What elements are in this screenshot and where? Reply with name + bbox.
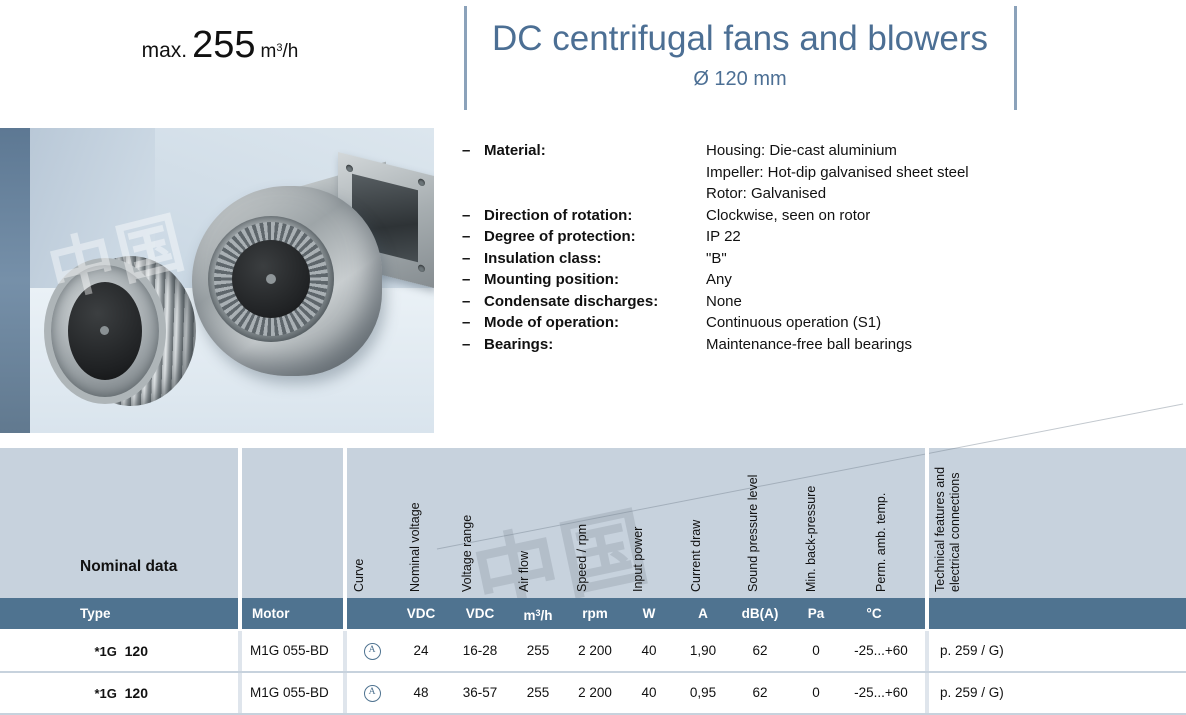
column-gap (238, 673, 242, 713)
column-gap (925, 598, 929, 629)
spec-label: Bearings: (484, 334, 706, 356)
product-photo: 中国 (0, 128, 434, 433)
spec-dash: – (462, 269, 484, 291)
spec-value: None (706, 291, 1180, 313)
cell-notes[interactable]: p. 259 / G) (940, 673, 1160, 713)
spec-dash: – (462, 140, 484, 162)
table-unit-row: Type Motor VDC VDC m3/h rpm W A dB(A) Pa… (0, 598, 1186, 629)
spec-dash: – (462, 226, 484, 248)
blower-hub (232, 240, 310, 318)
cell-current-draw: 1,90 (678, 631, 728, 671)
header-amb-temp: Perm. amb. temp. (874, 493, 888, 592)
cell-type: *1G 120 (0, 631, 148, 671)
spec-label: Direction of rotation: (484, 205, 706, 227)
spec-value: IP 22 (706, 226, 1180, 248)
spec-value: Impeller: Hot-dip galvanised sheet steel (706, 162, 1180, 184)
spec-label: Mounting position: (484, 269, 706, 291)
spec-values: None (706, 291, 1180, 313)
cell-nominal-voltage: 48 (396, 673, 446, 713)
spec-values: Maintenance-free ball bearings (706, 334, 1180, 356)
cell-amb-temp: -25...+60 (842, 631, 920, 671)
unit-notes (940, 598, 1140, 629)
column-gap (925, 673, 929, 713)
table-rotated-header-band: 中国 Nominal data Curve Nominal voltage Vo… (0, 448, 1186, 598)
flange-hole-icon (418, 178, 425, 187)
spec-dash: – (462, 205, 484, 227)
max-airflow-callout: max.255m3/h (0, 24, 440, 67)
spec-row: – Condensate discharges: None (462, 291, 1180, 313)
spec-value: Maintenance-free ball bearings (706, 334, 1180, 356)
cell-input-power: 40 (626, 631, 672, 671)
nominal-data-table: 中国 Nominal data Curve Nominal voltage Vo… (0, 448, 1186, 712)
page-title: DC centrifugal fans and blowers (466, 18, 1014, 60)
impeller-back-plate (68, 282, 142, 380)
cell-sound-pressure: 62 (732, 631, 788, 671)
spec-row: – Material: Housing: Die-cast aluminium … (462, 140, 1180, 205)
photo-left-bar (0, 128, 30, 433)
column-gap (238, 598, 242, 629)
cell-notes[interactable]: p. 259 / G) (940, 631, 1160, 671)
header-technical-features-line2: electrical connections (948, 472, 962, 592)
spec-value: "B" (706, 248, 1180, 270)
header-min-back-pressure: Min. back-pressure (804, 486, 818, 592)
cell-amb-temp: -25...+60 (842, 673, 920, 713)
specifications-list: – Material: Housing: Die-cast aluminium … (462, 140, 1180, 355)
spec-values: Housing: Die-cast aluminium Impeller: Ho… (706, 140, 1180, 205)
header-input-power: Input power (631, 527, 645, 592)
header-electrical-connections: electrical connections (948, 472, 963, 592)
max-airflow-unit: m3/h (261, 41, 299, 62)
cell-current-draw: 0,95 (678, 673, 728, 713)
spec-dash: – (462, 248, 484, 270)
max-airflow-label: max. (142, 39, 188, 62)
spec-label: Mode of operation: (484, 312, 706, 334)
spec-row: – Mounting position: Any (462, 269, 1180, 291)
table-row[interactable]: *1G 120 M1G 055-BD A 48 36-57 255 2 200 … (0, 673, 1186, 715)
unit-nominal-voltage: VDC (396, 598, 446, 629)
column-gap (925, 448, 929, 598)
spec-label: Insulation class: (484, 248, 706, 270)
unit-curve (352, 598, 392, 629)
page-subtitle: Ø 120 mm (466, 64, 1014, 94)
spec-value: Any (706, 269, 1180, 291)
spec-value: Clockwise, seen on rotor (706, 205, 1180, 227)
spec-label: Condensate discharges: (484, 291, 706, 313)
header-sound-pressure: Sound pressure level (746, 475, 760, 592)
cell-nominal-voltage: 24 (396, 631, 446, 671)
column-gap (343, 598, 347, 629)
header-divider-right (1014, 6, 1017, 110)
column-gap (343, 448, 347, 598)
spec-row: – Direction of rotation: Clockwise, seen… (462, 205, 1180, 227)
cell-speed: 2 200 (568, 673, 622, 713)
cell-curve[interactable]: A (352, 631, 392, 671)
spec-values: IP 22 (706, 226, 1180, 248)
column-gap (925, 631, 929, 671)
spec-row: – Insulation class: "B" (462, 248, 1180, 270)
unit-motor: Motor (252, 598, 340, 629)
spec-row: – Degree of protection: IP 22 (462, 226, 1180, 248)
header-curve: Curve (352, 559, 366, 592)
column-gap (238, 448, 242, 598)
unit-input-power: W (626, 598, 672, 629)
cell-curve[interactable]: A (352, 673, 392, 713)
spec-dash: – (462, 291, 484, 313)
header-nominal-voltage: Nominal voltage (408, 502, 422, 592)
spec-label: Material: (484, 140, 706, 162)
spec-values: "B" (706, 248, 1180, 270)
unit-min-back-pressure: Pa (794, 598, 838, 629)
flange-hole-icon (346, 164, 353, 173)
unit-air-flow: m3/h (512, 598, 564, 629)
cell-speed: 2 200 (568, 631, 622, 671)
cell-air-flow: 255 (512, 673, 564, 713)
unit-voltage-range: VDC (452, 598, 508, 629)
cell-min-back-pressure: 0 (794, 673, 838, 713)
spec-value: Rotor: Galvanised (706, 183, 1180, 205)
header-technical-features-line1: Technical features and (933, 467, 947, 592)
column-gap (343, 631, 347, 671)
header-current-draw: Current draw (689, 520, 703, 592)
spec-row: – Bearings: Maintenance-free ball bearin… (462, 334, 1180, 356)
header-speed: Speed / rpm (575, 524, 589, 592)
title-block: DC centrifugal fans and blowers Ø 120 mm (466, 18, 1014, 94)
header-technical-features: Technical features and (933, 467, 948, 592)
unit-type: Type (80, 598, 230, 629)
spec-values: Clockwise, seen on rotor (706, 205, 1180, 227)
spec-values: Continuous operation (S1) (706, 312, 1180, 334)
table-row[interactable]: *1G 120 M1G 055-BD A 24 16-28 255 2 200 … (0, 631, 1186, 673)
cell-motor: M1G 055-BD (250, 631, 342, 671)
unit-current-draw: A (678, 598, 728, 629)
cell-min-back-pressure: 0 (794, 631, 838, 671)
cell-input-power: 40 (626, 673, 672, 713)
cell-type: *1G 120 (0, 673, 148, 713)
unit-amb-temp: °C (844, 598, 904, 629)
max-airflow-value: 255 (187, 24, 260, 66)
spec-label: Degree of protection: (484, 226, 706, 248)
spec-row: – Mode of operation: Continuous operatio… (462, 312, 1180, 334)
cell-voltage-range: 36-57 (452, 673, 508, 713)
unit-sound-pressure: dB(A) (732, 598, 788, 629)
spec-values: Any (706, 269, 1180, 291)
cell-voltage-range: 16-28 (452, 631, 508, 671)
cell-air-flow: 255 (512, 631, 564, 671)
spec-dash: – (462, 312, 484, 334)
header-voltage-range: Voltage range (460, 515, 474, 592)
spec-dash: – (462, 334, 484, 356)
spec-value: Housing: Die-cast aluminium (706, 140, 1180, 162)
unit-speed: rpm (568, 598, 622, 629)
column-gap (343, 673, 347, 713)
cell-motor: M1G 055-BD (250, 673, 342, 713)
flange-hole-icon (418, 264, 425, 273)
curve-a-icon[interactable]: A (364, 685, 381, 702)
spec-value: Continuous operation (S1) (706, 312, 1180, 334)
header-air-flow: Air flow (517, 551, 531, 592)
curve-a-icon[interactable]: A (364, 643, 381, 660)
column-gap (238, 631, 242, 671)
page-header: max.255m3/h DC centrifugal fans and blow… (0, 0, 1186, 120)
loose-impeller (44, 256, 210, 406)
cell-sound-pressure: 62 (732, 673, 788, 713)
table-section-label: Nominal data (80, 558, 177, 576)
